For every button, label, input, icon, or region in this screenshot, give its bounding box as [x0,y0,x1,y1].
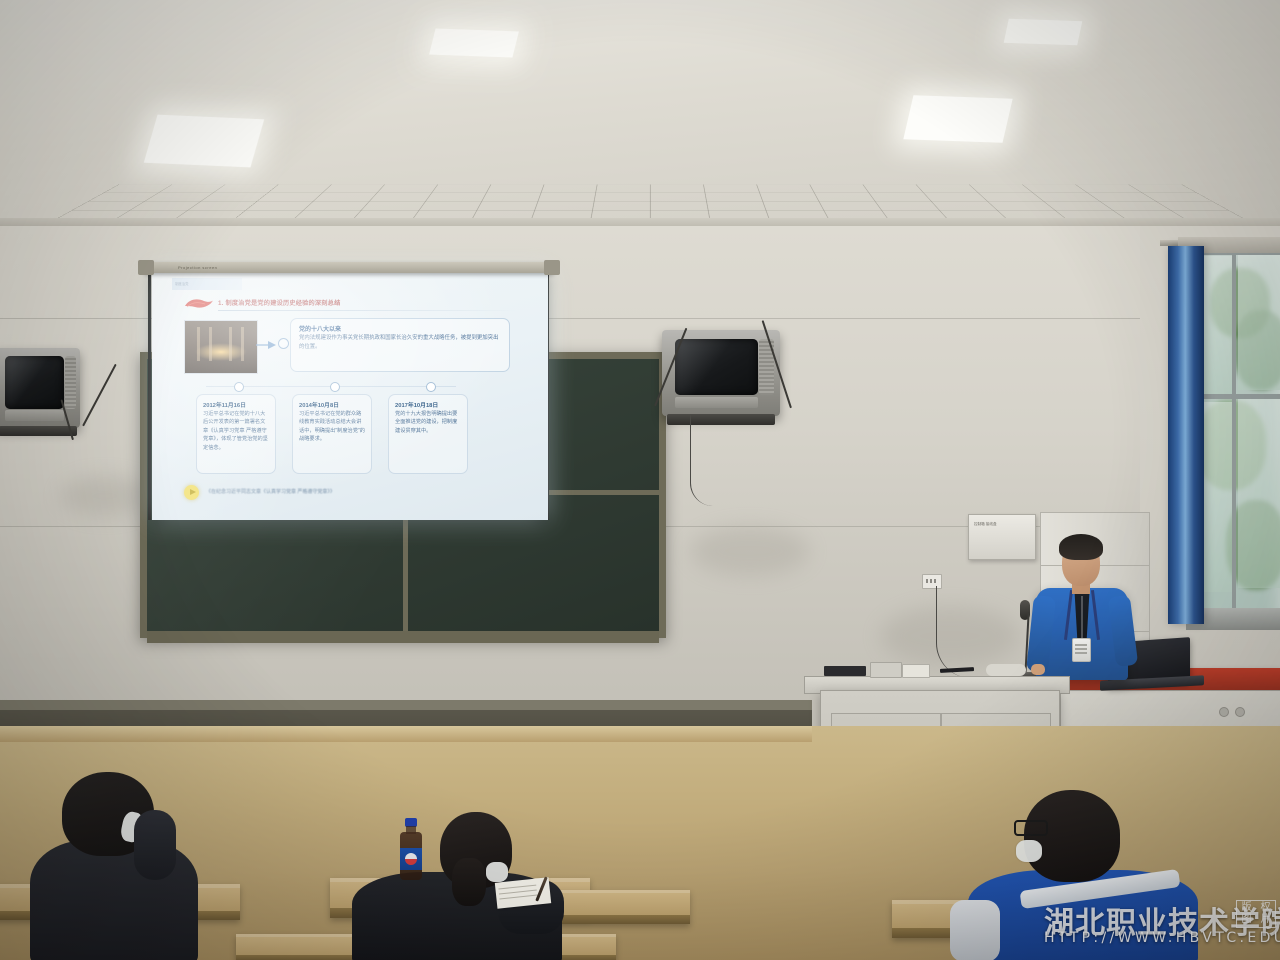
wall-box-label: 控制箱 接线盒 [974,521,997,527]
ceiling-light-panel [903,95,1012,142]
tv-screen [5,356,64,409]
roller-end-cap [138,260,154,275]
slide-tab: 制度治党 [172,278,242,290]
watermark-url: HTTP://WWW.HBVTC.EDU.CN [1044,930,1280,946]
timeline-card-date: 2017年10月18日 [395,400,438,409]
timeline-card-date: 2014年10月8日 [299,400,339,409]
screen-tension-cord [148,270,151,520]
student-arm [134,810,176,880]
remote-control[interactable] [824,666,866,676]
timeline-node-icon [330,382,340,392]
tv-speaker-grill [65,356,76,409]
watermark: 湖北职业技术学院 版 权 图 片 HTTP://WWW.HBVTC.EDU.CN [1040,898,1276,956]
tv-screen [675,339,758,396]
face-mask [486,862,508,882]
timeline-node-icon [426,382,436,392]
slide-title-underline [218,310,518,311]
slide-title: 1. 制度治党是党的建设历史经验的深刻总结 [218,298,518,307]
tv-control-panel[interactable] [675,397,758,408]
presentation-slide: 制度治党 1. 制度治党是党的建设历史经验的深刻总结 党的十 [158,278,542,514]
tv-wall-bracket [667,414,776,424]
watermark-copyright-stamp: 版 权 图 片 [1236,900,1276,928]
slide-hero-heading: 党的十八大以来 [299,324,341,333]
tv-wall-bracket [0,426,77,436]
eyeglasses [1014,820,1048,836]
red-flag-icon [184,296,214,312]
timeline-card-text: 习近平总书记在党的群众路线教育实践活动总结大会讲话中，明确提出"制度治党"的战略… [299,410,365,444]
slide-hero-card: 党的十八大以来 党内法规建设作为事关党长期执政和国家长治久安的重大战略任务，被提… [290,318,510,372]
instructor-hand [1031,664,1045,675]
projection-screen[interactable]: 制度治党 1. 制度治党是党的建设历史经验的深刻总结 党的十 [152,272,548,520]
crt-tv-left [0,348,80,428]
desk-tray [986,664,1026,676]
window-curtain[interactable] [1168,246,1204,624]
stamp-char: 图 [1237,914,1256,926]
wall-control-box[interactable]: 控制箱 接线盒 [968,514,1036,560]
instructor-hair [1059,534,1103,560]
id-badge [1072,638,1091,662]
pepsi-bottle[interactable] [400,818,422,880]
small-box[interactable] [870,662,902,678]
ponytail [452,858,486,906]
timeline-card: 2014年10月8日 习近平总书记在党的群众路线教育实践活动总结大会讲话中，明确… [292,394,372,474]
podium-step [0,726,812,742]
roller-end-cap [544,260,560,275]
bottle-label [400,848,422,870]
face-mask [1016,840,1042,862]
paper-box[interactable] [902,664,930,678]
stamp-char: 片 [1256,914,1275,926]
chalk-tray [147,631,659,643]
stamp-char: 版 [1237,902,1256,914]
timeline-node-icon [234,382,244,392]
ceiling-light-panel [144,115,264,168]
roller-brand-label: Projection screen [178,265,217,270]
timeline-card-text: 党的十九大报告明确提出要全面推进党的建设，把制度建设贯穿其中。 [395,410,461,435]
ceiling [0,0,1280,232]
timeline-node-icon [278,338,289,349]
student-arm [950,900,1000,960]
student-head-back [1024,790,1120,882]
timeline-card: 2012年11月16日 习近平总书记在党的十八大后公开发表的第一篇署名文章《认真… [196,394,276,474]
slide-hero-photo [184,320,258,374]
timeline-card-date: 2012年11月16日 [203,400,246,409]
slide-footer: 《在纪念习近平同志文章《认真学习党章 严格遵守党章》》 [184,484,484,502]
slide-hero-body: 党内法规建设作为事关党长期执政和国家长治久安的重大战略任务，被提到更加突出的位置… [299,334,499,352]
timeline-card: 2017年10月18日 党的十九大报告明确提出要全面推进党的建设，把制度建设贯穿… [388,394,468,474]
tv-power-cable [690,414,713,506]
stamp-char: 权 [1256,902,1275,914]
classroom-photo: 制度治党 1. 制度治党是党的建设历史经验的深刻总结 党的十 [0,0,1280,960]
projection-screen-roller[interactable]: Projection screen [144,262,554,273]
ceiling-light-panel [1004,19,1083,46]
wall-lower-band-highlight [0,700,812,710]
connector-arrow-icon [256,340,280,350]
ceiling-light-panel [429,29,519,58]
tv-control-panel[interactable] [5,410,64,420]
slide-footer-note: 《在纪念习近平同志文章《认真学习党章 严格遵守党章》》 [206,488,335,495]
slide-tab-label: 制度治党 [172,278,242,290]
play-icon[interactable] [184,485,199,500]
timeline-card-text: 习近平总书记在党的十八大后公开发表的第一篇署名文章《认真学习党章 严格遵守党章》… [203,410,269,452]
